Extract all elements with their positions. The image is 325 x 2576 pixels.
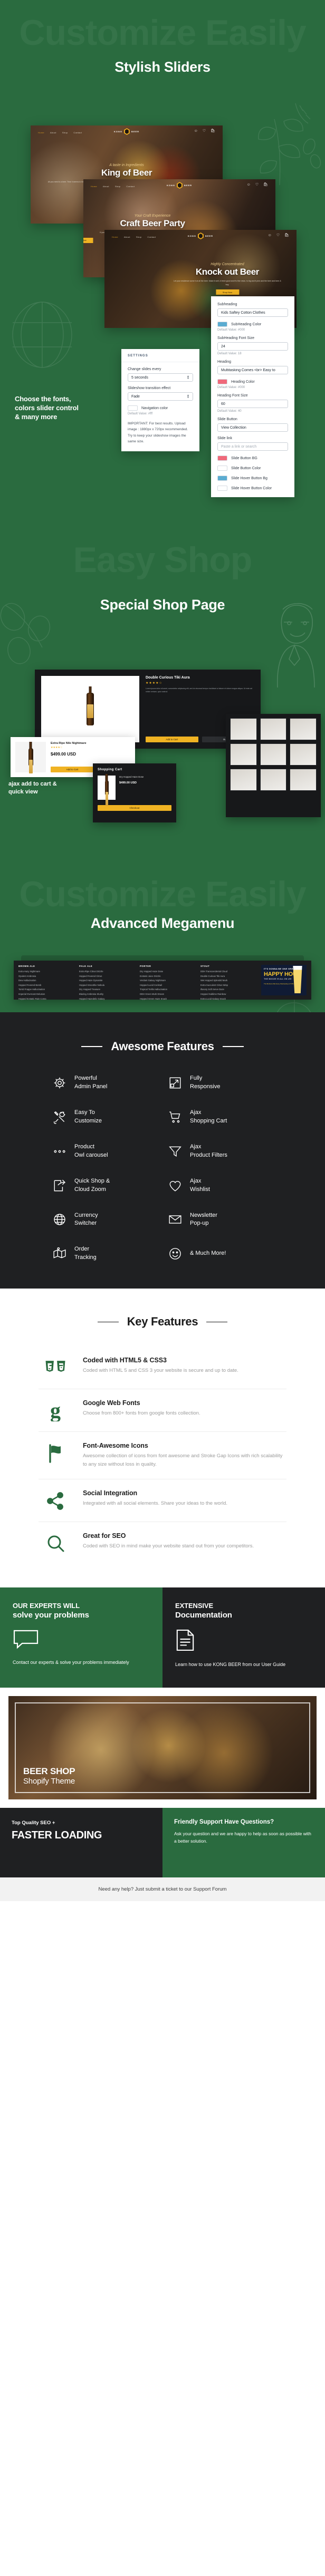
support-heading: Friendly Support Have Questions?	[174, 1818, 313, 1827]
slide-fields-panel[interactable]: Subheading Kids Saftey Cotton Clothes Su…	[211, 296, 294, 497]
map-icon	[52, 1246, 68, 1262]
feature-label: Currency Switcher	[74, 1212, 98, 1228]
html5-css3-icon	[39, 1357, 72, 1379]
flag-icon	[39, 1442, 72, 1464]
stepper-icon: ▲▼	[187, 375, 189, 380]
bottle-illustration-small	[28, 748, 33, 766]
megamenu-column-heading: PORTER	[140, 965, 200, 967]
add-to-cart-button[interactable]: Add to Cart	[146, 737, 198, 742]
feature-label: Fully Responsive	[190, 1074, 220, 1091]
key-feature-heading: Font-Awesome Icons	[83, 1442, 286, 1449]
heading-font-size-default: Default Value: 40	[217, 410, 288, 413]
heading-color-label: Heading Color	[231, 380, 255, 384]
feature-label: Ajax Product Filters	[190, 1143, 227, 1160]
user-icon[interactable]: ☺	[268, 234, 272, 237]
feature-newsletter-popup: Newsletter Pop-up	[167, 1212, 273, 1228]
product-rating-stars: ★★★★☆	[146, 681, 254, 685]
megamenu-item[interactable]: Extra Succulent Citrus Wisp	[200, 984, 261, 986]
label-subheading-font-size: SubHeading Font Size	[217, 336, 288, 340]
nav-home[interactable]: Home	[112, 236, 118, 238]
navigation-color-label: Navigation color	[141, 406, 168, 410]
product-name: Double Curious Tiki Aura	[146, 676, 254, 680]
megamenu-item[interactable]: Hopped Lucid Cocktail	[140, 984, 200, 986]
feature-line2: Tracking	[74, 1254, 97, 1261]
feature-line1: Easy To	[74, 1109, 95, 1116]
advanced-megamenu-title: Advanced Megamenu	[0, 915, 325, 932]
key-features-section: Key Features Coded with HTML5 & CSS3 Cod…	[0, 1289, 325, 1587]
feature-line2: Pop-up	[190, 1220, 208, 1226]
megamenu-item[interactable]: Hopped Smoothie Nebula	[79, 984, 140, 986]
awesome-features-grid: Powerful Admin Panel Fully Responsive	[52, 1074, 273, 1262]
navigation-color-swatch[interactable]	[128, 405, 138, 411]
banner-line2: Shopify Theme	[23, 1777, 75, 1786]
documentation-line1: EXTENSIVE	[175, 1602, 213, 1610]
slide-hover-button-color-row[interactable]: Slide Hover Button Color	[217, 486, 288, 491]
experts-heading: OUR EXPERTS WILL solve your problems	[13, 1601, 150, 1621]
carousel-icon	[52, 1144, 68, 1159]
user-icon[interactable]: ☺	[247, 183, 251, 187]
footer: Need any help? Just submit a ticket to o…	[0, 1877, 325, 1901]
grid-product-card[interactable]	[290, 743, 317, 766]
slide-3-subheading: Highly Concentrated	[171, 263, 283, 266]
product-image	[41, 676, 139, 742]
nav-shop[interactable]: Shop	[62, 131, 68, 134]
experts-panel: OUR EXPERTS WILL solve your problems Con…	[0, 1587, 162, 1688]
feature-powerful-admin-panel: Powerful Admin Panel	[52, 1074, 158, 1091]
support-text: Ask your question and we are happy to he…	[174, 1831, 313, 1845]
nav-home[interactable]: Home	[91, 185, 97, 188]
rule-left	[81, 1046, 102, 1047]
nav-about[interactable]: About	[124, 236, 130, 238]
faster-loading-label: FASTER LOADING	[12, 1829, 151, 1841]
experts-text: Contact our experts & solve your problem…	[13, 1659, 150, 1667]
feature-currency-switcher: Currency Switcher	[52, 1212, 158, 1228]
heart-icon	[167, 1178, 183, 1194]
logo-text-right: BEER	[205, 235, 213, 237]
share-nodes-icon	[39, 1489, 72, 1512]
grid-product-card[interactable]	[230, 743, 257, 766]
slide-hover-button-color-label: Slide Hover Button Color	[231, 487, 272, 490]
slide-1-header-icons[interactable]: ☺ ♡ 🛍	[194, 129, 215, 133]
key-feature-font-awesome-icons: Font-Awesome Icons Awesome collection of…	[39, 1432, 286, 1479]
transition-effect-value: Fade	[131, 395, 140, 399]
megamenu-promo-banner[interactable]: IT'S GONNA BE ONE GREAT HAPPY HOUR THE B…	[261, 965, 307, 995]
hop-leaf-decoration	[243, 98, 322, 188]
faster-loading-card: Top Quality SEO + FASTER LOADING	[0, 1808, 162, 1877]
megamenu-item[interactable]: Wet Hopped Splendid Murk	[200, 979, 261, 982]
slide-hover-button-bg-row[interactable]: Slide Hover Button Bg	[217, 476, 288, 481]
feature-order-tracking: Order Tracking	[52, 1245, 158, 1262]
slide-button-bg-swatch[interactable]	[217, 456, 227, 461]
feature-label: Ajax Shopping Cart	[190, 1109, 227, 1126]
megamenu-column-heading: STOUT	[200, 965, 261, 967]
quickview-add-to-cart-button[interactable]: Add to Cart	[51, 767, 94, 772]
megamenu-column-heading: PALE ALE	[79, 965, 140, 967]
grid-product-card[interactable]	[260, 718, 287, 740]
bag-icon[interactable]: 🛍	[284, 233, 289, 237]
megamenu-item[interactable]: Double Curious Tiki Aura	[200, 975, 261, 977]
key-feature-text: Font-Awesome Icons Awesome collection of…	[83, 1442, 286, 1468]
slide-button-color-row[interactable]: Slide Button Color	[217, 466, 288, 471]
change-slides-select[interactable]: 5 seconds ▲▼	[128, 373, 193, 382]
slide-2-logo: KONG BEER	[167, 182, 192, 189]
megamenu-item[interactable]: Illusory Soft Serve Daze	[200, 988, 261, 991]
slide-hover-button-bg-swatch[interactable]	[217, 476, 227, 481]
cart-item-name: Dry Hopped Haze Dose	[119, 776, 171, 779]
slider-caption: Choose the fonts, colors slider control …	[15, 394, 84, 421]
subheading-color-swatch[interactable]	[217, 322, 227, 327]
megamenu-panel[interactable]: BROWN ALE Extra Hazy Nightmare Opulent A…	[14, 961, 311, 1000]
feature-quick-shop-cloud-zoom: Quick Shop & Cloud Zoom	[52, 1177, 158, 1194]
rule-right	[206, 1322, 227, 1323]
heading-font-size-input[interactable]: 60	[217, 400, 288, 408]
feature-line1: Order	[74, 1246, 89, 1252]
nav-about[interactable]: About	[50, 131, 56, 134]
feature-line1: Currency	[74, 1212, 98, 1218]
key-features-list: Coded with HTML5 & CSS3 Coded with HTML …	[39, 1347, 286, 1564]
slide-3-button[interactable]: Shop Now	[216, 289, 239, 295]
bottom-cards-section: Top Quality SEO + FASTER LOADING Friendl…	[0, 1808, 325, 1877]
feature-ajax-shopping-cart: Ajax Shopping Cart	[167, 1109, 273, 1126]
slide-1-heading: King of Beer	[44, 168, 209, 178]
beer-shop-banner-section: BEER SHOP Shopify Theme	[0, 1688, 325, 1808]
megamenu-column-stout: STOUT DDH Transcendental Cloud Double Cu…	[200, 965, 261, 995]
feature-line2: Shopping Cart	[190, 1118, 227, 1124]
key-feature-heading: Google Web Fonts	[83, 1399, 200, 1407]
feature-line2: Product Filters	[190, 1152, 227, 1158]
megamenu-item[interactable]: Extra Ripe Citrus Drizzle	[79, 970, 140, 973]
cart-item-thumbnail	[98, 776, 116, 800]
megamenu-item[interactable]: Hopped Fevered Bomb	[18, 984, 79, 986]
feature-ajax-wishlist: Ajax Wishlist	[167, 1177, 273, 1194]
feature-line1: Quick Shop &	[74, 1178, 110, 1184]
bag-icon[interactable]: 🛍	[211, 129, 215, 133]
feature-line1: Ajax	[190, 1178, 201, 1184]
landing-page: Customize Easily Stylish Sliders	[0, 0, 325, 1901]
gear-icon	[52, 1075, 68, 1091]
megamenu-column-heading: BROWN ALE	[18, 965, 79, 967]
megamenu-item[interactable]: Opulent Ambrosia	[18, 975, 79, 977]
cart-panel-title: Shopping Cart	[98, 768, 171, 771]
slide-button-value: View Collection	[221, 426, 246, 430]
feature-easy-to-customize: Easy To Customize	[52, 1109, 158, 1126]
slide-link-placeholder: Paste a link or search	[221, 445, 256, 449]
logo-text-left: KONG	[167, 184, 175, 187]
heading-color-row[interactable]: Heading Color	[217, 379, 288, 384]
feature-label: Ajax Wishlist	[190, 1177, 210, 1194]
slide-button-bg-label: Slide Button BG	[231, 457, 257, 460]
advanced-megamenu-section: Customize Easily Advanced Megamenu BROWN…	[0, 865, 325, 1012]
magnifier-icon	[39, 1532, 72, 1554]
cart-item-price: $499.00 USD	[119, 781, 171, 785]
feature-label: Quick Shop & Cloud Zoom	[74, 1177, 110, 1194]
subheading-value: Kids Saftey Cotton Clothes	[221, 311, 265, 315]
grid-product-card[interactable]	[260, 743, 287, 766]
slide-link-input[interactable]: Paste a link or search	[217, 442, 288, 451]
label-heading: Heading	[217, 360, 288, 364]
heart-icon[interactable]: ♡	[276, 233, 280, 237]
megamenu-item[interactable]: Hopped Green Haze Snack	[140, 998, 200, 1000]
feature-line2: Responsive	[190, 1083, 220, 1090]
feature-label: Easy To Customize	[74, 1109, 102, 1126]
slide-3-paragraph: Let your residence some it at all the be…	[171, 279, 283, 287]
documentation-heading: EXTENSIVE Documentation	[175, 1601, 312, 1621]
feature-line2: Customize	[74, 1118, 102, 1124]
nav-contact[interactable]: Contact	[126, 185, 135, 188]
grid-product-card[interactable]	[290, 718, 317, 740]
feature-label: Product Owl carousel	[74, 1143, 108, 1160]
heading-input[interactable]: Multitasking Comes <br> Easy to	[217, 366, 288, 374]
feature-product-owl-carousel: Product Owl carousel	[52, 1143, 158, 1160]
feature-line1: Ajax	[190, 1144, 201, 1150]
footer-text: Need any help? Just submit a ticket to o…	[0, 1886, 325, 1892]
globe-icon	[52, 1212, 68, 1227]
awesome-features-section: Awesome Features Powerful Admin Panel Fu…	[0, 1012, 325, 1289]
awesome-features-title: Awesome Features	[111, 1040, 214, 1053]
megamenu-item[interactable]: Hopped Fevered Citrus	[79, 975, 140, 977]
feature-label: Order Tracking	[74, 1245, 97, 1262]
key-feature-text: Great for SEO Coded with SEO in mind mak…	[83, 1532, 254, 1551]
banner-line1: BEER SHOP	[23, 1766, 75, 1777]
megamenu-item[interactable]: Blazing Ambrosia Slushy	[79, 993, 140, 995]
heading-value: Multitasking Comes <br> Easy to	[221, 369, 275, 372]
megamenu-item[interactable]: Tropical Trellis Hallucination	[140, 988, 200, 991]
slide-button-color-label: Slide Button Color	[231, 467, 261, 470]
slide-3-header-icons[interactable]: ☺ ♡ 🛍	[268, 233, 289, 237]
megamenu-item[interactable]: Extra Hazy Nightmare	[18, 970, 79, 973]
slide-button-color-swatch[interactable]	[217, 466, 227, 471]
seo-label: Top Quality SEO +	[12, 1819, 151, 1826]
experts-documentation-section: OUR EXPERTS WILL solve your problems Con…	[0, 1587, 325, 1688]
documentation-panel: EXTENSIVE Documentation Learn how to use…	[162, 1587, 325, 1688]
slide-1-subheading: A taste in Ingredients	[44, 163, 209, 167]
chat-bubble-icon	[13, 1629, 150, 1652]
key-feature-google-web-fonts: g Google Web Fonts Choose from 800+ font…	[39, 1389, 286, 1432]
feature-line2: Admin Panel	[74, 1083, 107, 1090]
key-feature-heading: Great for SEO	[83, 1532, 254, 1539]
megamenu-item[interactable]: Dew Hallucination	[18, 979, 79, 982]
slider-settings-panel[interactable]: Settings Change slides every 5 seconds ▲…	[121, 349, 199, 451]
heading-font-size-value: 60	[221, 402, 225, 406]
label-slide-link: Slide link	[217, 437, 288, 440]
megamenu-item[interactable]: Torrid Frappe Hallucination	[18, 988, 79, 991]
megamenu-item[interactable]: DDH Transcendental Cloud	[200, 970, 261, 973]
slide-button-bg-row[interactable]: Slide Button BG	[217, 456, 288, 461]
slide-button-input[interactable]: View Collection	[217, 423, 288, 432]
megamenu-item[interactable]: Dry Hopped Haze Dose	[140, 970, 200, 973]
key-feature-text: Social Integration Integrated with all s…	[83, 1489, 227, 1508]
special-shop-section: Easy Shop Special Shop Page	[0, 517, 325, 865]
bag-icon[interactable]: 🛍	[263, 182, 268, 187]
subheading-input[interactable]: Kids Saftey Cotton Clothes	[217, 308, 288, 317]
experts-line1: OUR EXPERTS WILL	[13, 1602, 80, 1610]
grid-product-card[interactable]	[230, 769, 257, 791]
quickview-stars: ★★★★☆	[51, 746, 130, 749]
key-feature-heading: Coded with HTML5 & CSS3	[83, 1357, 238, 1364]
experts-line2: solve your problems	[13, 1610, 150, 1621]
logo-text-left: KONG	[114, 130, 122, 133]
share-icon	[52, 1178, 68, 1194]
stylish-sliders-title: Stylish Sliders	[0, 59, 325, 75]
logo-text-right: BEER	[184, 184, 192, 187]
slide-2-header-icons[interactable]: ☺ ♡ 🛍	[247, 182, 268, 187]
nav-about[interactable]: About	[103, 185, 109, 188]
megamenu-item[interactable]: Verdant Galaxy Nightmare	[140, 979, 200, 982]
megamenu-column-pale-ale: PALE ALE Extra Ripe Citrus Drizzle Hoppe…	[79, 965, 140, 995]
key-feature-social-integration: Social Integration Integrated with all s…	[39, 1479, 286, 1522]
barrel-decoration	[5, 295, 79, 374]
key-feature-text: Google Web Fonts Choose from 800+ fonts …	[83, 1399, 200, 1418]
stepper-icon: ▲▼	[187, 394, 189, 399]
subheading-color-label: SubHeading Color	[231, 323, 261, 326]
feature-label: & Much More!	[190, 1250, 226, 1258]
subheading-font-size-default: Default Value: 18	[217, 352, 288, 355]
nav-shop[interactable]: Shop	[115, 185, 121, 188]
key-feature-description: Integrated with all social elements. Sha…	[83, 1499, 227, 1508]
expand-icon	[167, 1075, 183, 1091]
feature-ajax-product-filters: Ajax Product Filters	[167, 1143, 273, 1160]
subheading-font-size-input[interactable]: 24	[217, 342, 288, 351]
heading-color-swatch[interactable]	[217, 379, 227, 384]
special-shop-title: Special Shop Page	[0, 597, 325, 613]
grid-product-card[interactable]	[260, 769, 287, 791]
label-subheading: Subheading	[217, 303, 288, 306]
change-slides-value: 5 seconds	[131, 376, 148, 380]
megamenu-column-porter: PORTER Dry Hopped Haze Dose Ecstatic Jui…	[140, 965, 200, 995]
megamenu-item[interactable]: Hopped Hazedelic Galaxy	[79, 998, 140, 1000]
nav-shop[interactable]: Shop	[136, 236, 142, 238]
section-watermark: Customize Easily	[0, 15, 325, 51]
key-feature-description: Choose from 800+ fonts from google fonts…	[83, 1409, 200, 1418]
hex-logo-icon	[198, 233, 204, 239]
banner-photo: BEER SHOP Shopify Theme	[8, 1696, 317, 1799]
subheading-font-size-value: 24	[221, 345, 225, 348]
megamenu-item[interactable]: Hopped Ecstatic Rain Coma	[18, 998, 79, 1000]
svg-text:g: g	[50, 1400, 61, 1421]
nav-contact[interactable]: Contact	[147, 236, 156, 238]
hex-logo-icon	[177, 182, 183, 189]
key-feature-description: Coded with SEO in mind make your website…	[83, 1542, 254, 1551]
smiley-icon	[167, 1246, 183, 1262]
grid-product-card[interactable]	[230, 718, 257, 740]
megamenu-item[interactable]: DDH Green Murk Dream	[140, 993, 200, 995]
friendly-support-card: Friendly Support Have Questions? Ask you…	[162, 1808, 325, 1877]
slide-hover-button-bg-label: Slide Hover Button Bg	[231, 477, 267, 480]
shop-cart-mockup[interactable]: Shopping Cart Dry Hopped Haze Dose $499.…	[93, 763, 176, 822]
feature-line1: Product	[74, 1144, 94, 1150]
tools-icon	[52, 1109, 68, 1125]
key-feature-text: Coded with HTML5 & CSS3 Coded with HTML …	[83, 1357, 238, 1375]
slide-2-heading: Craft Beer Party	[83, 219, 235, 229]
key-feature-description: Awesome collection of icons from font aw…	[83, 1452, 286, 1468]
nav-home[interactable]: Home	[38, 131, 44, 134]
cart-checkout-button[interactable]: Checkout	[98, 805, 171, 811]
label-slide-button: Slide Button	[217, 418, 288, 421]
feature-line2: Wishlist	[190, 1186, 210, 1193]
bottle-illustration	[87, 693, 94, 725]
google-g-icon: g	[39, 1399, 72, 1421]
logo-text-right: BEER	[131, 130, 139, 133]
feature-line2: Switcher	[74, 1220, 97, 1226]
upload-image-note: IMPORTANT: For best results. Upload imag…	[128, 421, 193, 445]
megamenu-column-brown-ale: BROWN ALE Extra Hazy Nightmare Opulent A…	[18, 965, 79, 995]
label-heading-font-size: Heading Font Size	[217, 394, 288, 398]
heart-icon[interactable]: ♡	[203, 129, 206, 133]
feature-label: Powerful Admin Panel	[74, 1074, 107, 1091]
transition-effect-select[interactable]: Fade ▲▼	[128, 392, 193, 401]
key-feature-great-for-seo: Great for SEO Coded with SEO in mind mak…	[39, 1522, 286, 1564]
heading-color-default: Default Value: #000	[217, 386, 288, 389]
heart-icon[interactable]: ♡	[255, 182, 259, 187]
logo-text-left: KONG	[188, 235, 196, 237]
megamenu-watermark: Customize Easily	[0, 876, 325, 912]
bottle-illustration-tiny	[105, 780, 109, 795]
key-feature-heading: Social Integration	[83, 1489, 227, 1497]
hex-logo-icon	[124, 128, 130, 135]
feature-line2: Owl carousel	[74, 1152, 108, 1158]
feature-much-more: & Much More!	[167, 1245, 273, 1262]
megamenu-item[interactable]: Ecstatic Juice Drizzle	[140, 975, 200, 977]
awesome-features-header: Awesome Features	[0, 1040, 325, 1053]
slide-3-logo: KONG BEER	[188, 233, 213, 239]
grid-product-card[interactable]	[290, 769, 317, 791]
field-label-transition: Slideshow transition effect	[128, 386, 193, 390]
rule-left	[98, 1322, 119, 1323]
shop-caption: ajax add to cart & quick view	[8, 780, 72, 796]
shop-grid-mockup[interactable]	[226, 714, 321, 817]
slide-hover-button-color-swatch[interactable]	[217, 486, 227, 491]
megamenu-item[interactable]: Hopped Sublime Rainbow	[200, 993, 261, 995]
quickview-product-name: Extra Ripe Nile Nightmare	[51, 742, 130, 745]
stylish-sliders-section: Customize Easily Stylish Sliders	[0, 0, 325, 517]
banner-text: BEER SHOP Shopify Theme	[23, 1766, 75, 1786]
slide-2-button[interactable]: Shop Now	[83, 238, 93, 243]
key-feature-description: Coded with HTML 5 and CSS 3 your website…	[83, 1367, 238, 1375]
megamenu-item[interactable]: Imperial Overcast Delusion	[18, 993, 79, 995]
subheading-color-row[interactable]: SubHeading Color	[217, 322, 288, 327]
feature-line1: Ajax	[190, 1109, 201, 1116]
filter-icon	[167, 1144, 183, 1159]
slide-3-copy: Highly Concentrated Knock out Beer Let y…	[171, 263, 283, 295]
rule-right	[223, 1046, 244, 1047]
settings-panel-title: Settings	[121, 349, 199, 362]
navigation-color-row[interactable]: Navigation color	[128, 405, 193, 411]
quickview-thumbnail	[15, 742, 46, 772]
feature-line1: Newsletter	[190, 1212, 217, 1218]
product-description: Lorem ipsum dolor sit amet, consectetur …	[146, 687, 254, 694]
user-icon[interactable]: ☺	[194, 129, 198, 133]
key-features-title: Key Features	[127, 1315, 198, 1329]
megamenu-item[interactable]: Extra Lucid Galaxy Snack	[200, 998, 261, 1000]
feature-line1: Fully	[190, 1075, 202, 1081]
navigation-color-default: Default Value: #fff	[128, 412, 193, 415]
slide-1-logo: KONG BEER	[114, 128, 139, 135]
feature-fully-responsive: Fully Responsive	[167, 1074, 273, 1091]
documentation-text: Learn how to use KONG BEER from our User…	[175, 1661, 312, 1669]
feature-label: Newsletter Pop-up	[190, 1212, 217, 1228]
slide-3-heading: Knock out Beer	[171, 267, 283, 277]
quickview-price: $499.00 USD	[51, 752, 130, 757]
cart-icon	[167, 1109, 183, 1125]
key-feature-html5-css3: Coded with HTML5 & CSS3 Coded with HTML …	[39, 1347, 286, 1389]
feature-line2: Cloud Zoom	[74, 1186, 106, 1193]
megamenu-item[interactable]: Hopped Haze Dynamite	[79, 979, 140, 982]
shop-watermark: Easy Shop	[0, 542, 325, 578]
feature-line1: & Much More!	[190, 1250, 226, 1256]
megamenu-item[interactable]: Dry Hopped Treasure	[79, 988, 140, 991]
document-icon	[175, 1629, 312, 1654]
nav-contact[interactable]: Contact	[73, 131, 82, 134]
